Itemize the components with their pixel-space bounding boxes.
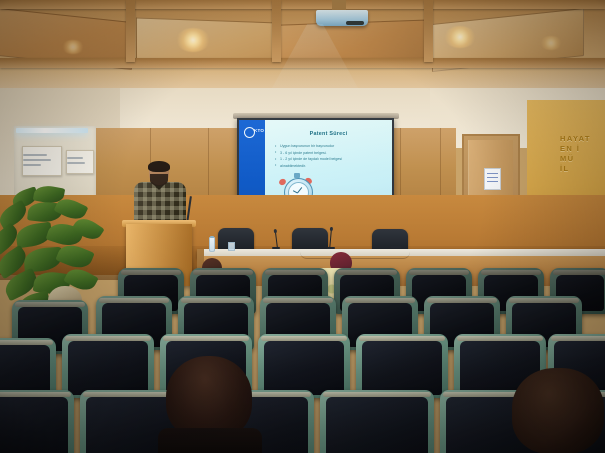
chair[interactable] bbox=[0, 390, 74, 453]
device-on-table bbox=[390, 246, 402, 248]
slide-bullet: 3 - 6 yıl içinde patent belgesi. bbox=[275, 151, 387, 157]
wall-notice bbox=[66, 150, 94, 174]
ceiling-beam bbox=[0, 0, 605, 9]
wall-sign-line-3: MÜ bbox=[560, 154, 605, 164]
drinking-glass[interactable] bbox=[228, 242, 235, 251]
wall-sign-line-2: EN İ bbox=[560, 144, 605, 154]
ceiling-beam bbox=[424, 0, 433, 62]
chair[interactable] bbox=[258, 334, 350, 398]
wall-notice bbox=[22, 146, 62, 176]
projector bbox=[316, 10, 368, 26]
conference-hall-photo: HAYAT EN İ MÜ İL KTO Patent Süreci Uygun… bbox=[0, 0, 605, 453]
ceiling-beam bbox=[272, 0, 281, 62]
door-notice-sign bbox=[484, 168, 501, 190]
presenter-hair bbox=[148, 161, 170, 172]
chair[interactable] bbox=[320, 390, 434, 453]
logo-text: KTO bbox=[254, 128, 264, 133]
wall-sign-line-4: İL bbox=[560, 164, 605, 174]
presenter bbox=[130, 162, 190, 226]
attendee-foreground bbox=[158, 356, 262, 453]
slide-bullet-list: Uygun başvurunun bir başvurudur 3 - 6 yı… bbox=[275, 144, 387, 170]
ceiling-spotlight bbox=[444, 26, 476, 48]
chair[interactable] bbox=[62, 334, 154, 398]
slide-bullet: alınabilmektedir. bbox=[275, 164, 387, 170]
slide-bullet: 1 - 2 yıl içinde de faydalı model belges… bbox=[275, 157, 387, 163]
ceiling-beam bbox=[126, 0, 135, 62]
attendee-right-edge bbox=[512, 368, 604, 453]
slide-bullet: Uygun başvurunun bir başvurudur bbox=[275, 144, 387, 150]
presenter-beard bbox=[150, 174, 168, 186]
chair[interactable] bbox=[356, 334, 448, 398]
ceiling-spotlight bbox=[176, 28, 210, 52]
water-bottle[interactable] bbox=[209, 237, 215, 252]
wall-sign-text: HAYAT EN İ MÜ İL bbox=[560, 134, 605, 174]
ceiling-spotlight bbox=[540, 36, 562, 50]
projector-lens bbox=[346, 21, 364, 25]
organization-logo-icon: KTO bbox=[244, 127, 260, 136]
wall-sign-line-1: HAYAT bbox=[560, 134, 605, 144]
ceiling-spotlight bbox=[62, 40, 84, 54]
slide-title: Patent Süreci bbox=[265, 131, 392, 137]
microphone-base bbox=[272, 247, 280, 249]
microphone-base bbox=[327, 247, 335, 249]
strip-light bbox=[16, 128, 88, 133]
